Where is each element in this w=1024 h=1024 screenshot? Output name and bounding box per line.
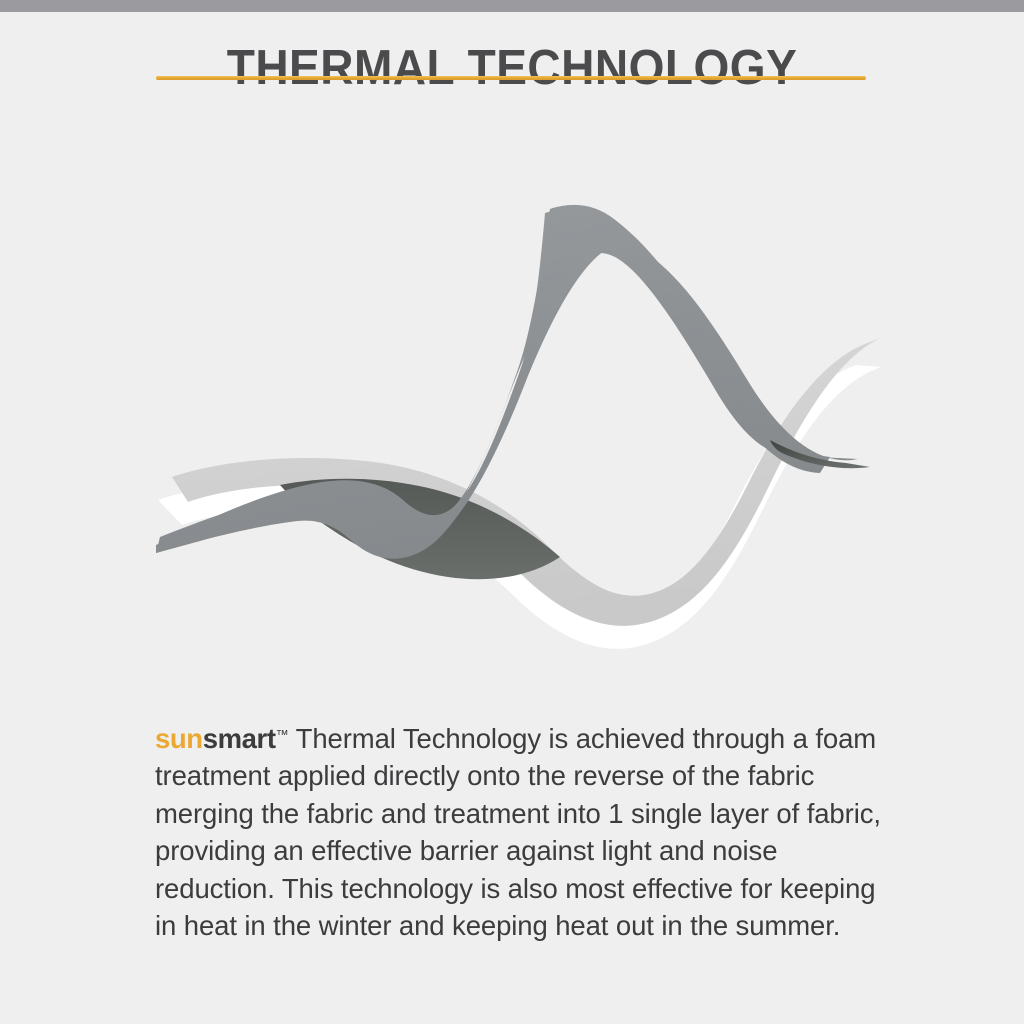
light-gray-foam-layer	[172, 335, 888, 626]
thermal-fabric-illustration	[130, 185, 890, 665]
body-paragraph: sunsmart™ Thermal Technology is achieved…	[155, 716, 885, 945]
page-root: THERMAL TECHNOLOGY	[0, 0, 1024, 1024]
top-accent-bar	[0, 0, 1024, 12]
body-paragraph-text: Thermal Technology is achieved through a…	[155, 723, 881, 942]
brand-sun-text: sun	[155, 723, 203, 754]
trademark-symbol: ™	[276, 727, 289, 742]
page-title: THERMAL TECHNOLOGY	[31, 44, 994, 93]
title-divider-rule	[156, 76, 866, 80]
page-header: THERMAL TECHNOLOGY	[0, 44, 1024, 93]
brand-smart-text: smart	[203, 723, 276, 754]
